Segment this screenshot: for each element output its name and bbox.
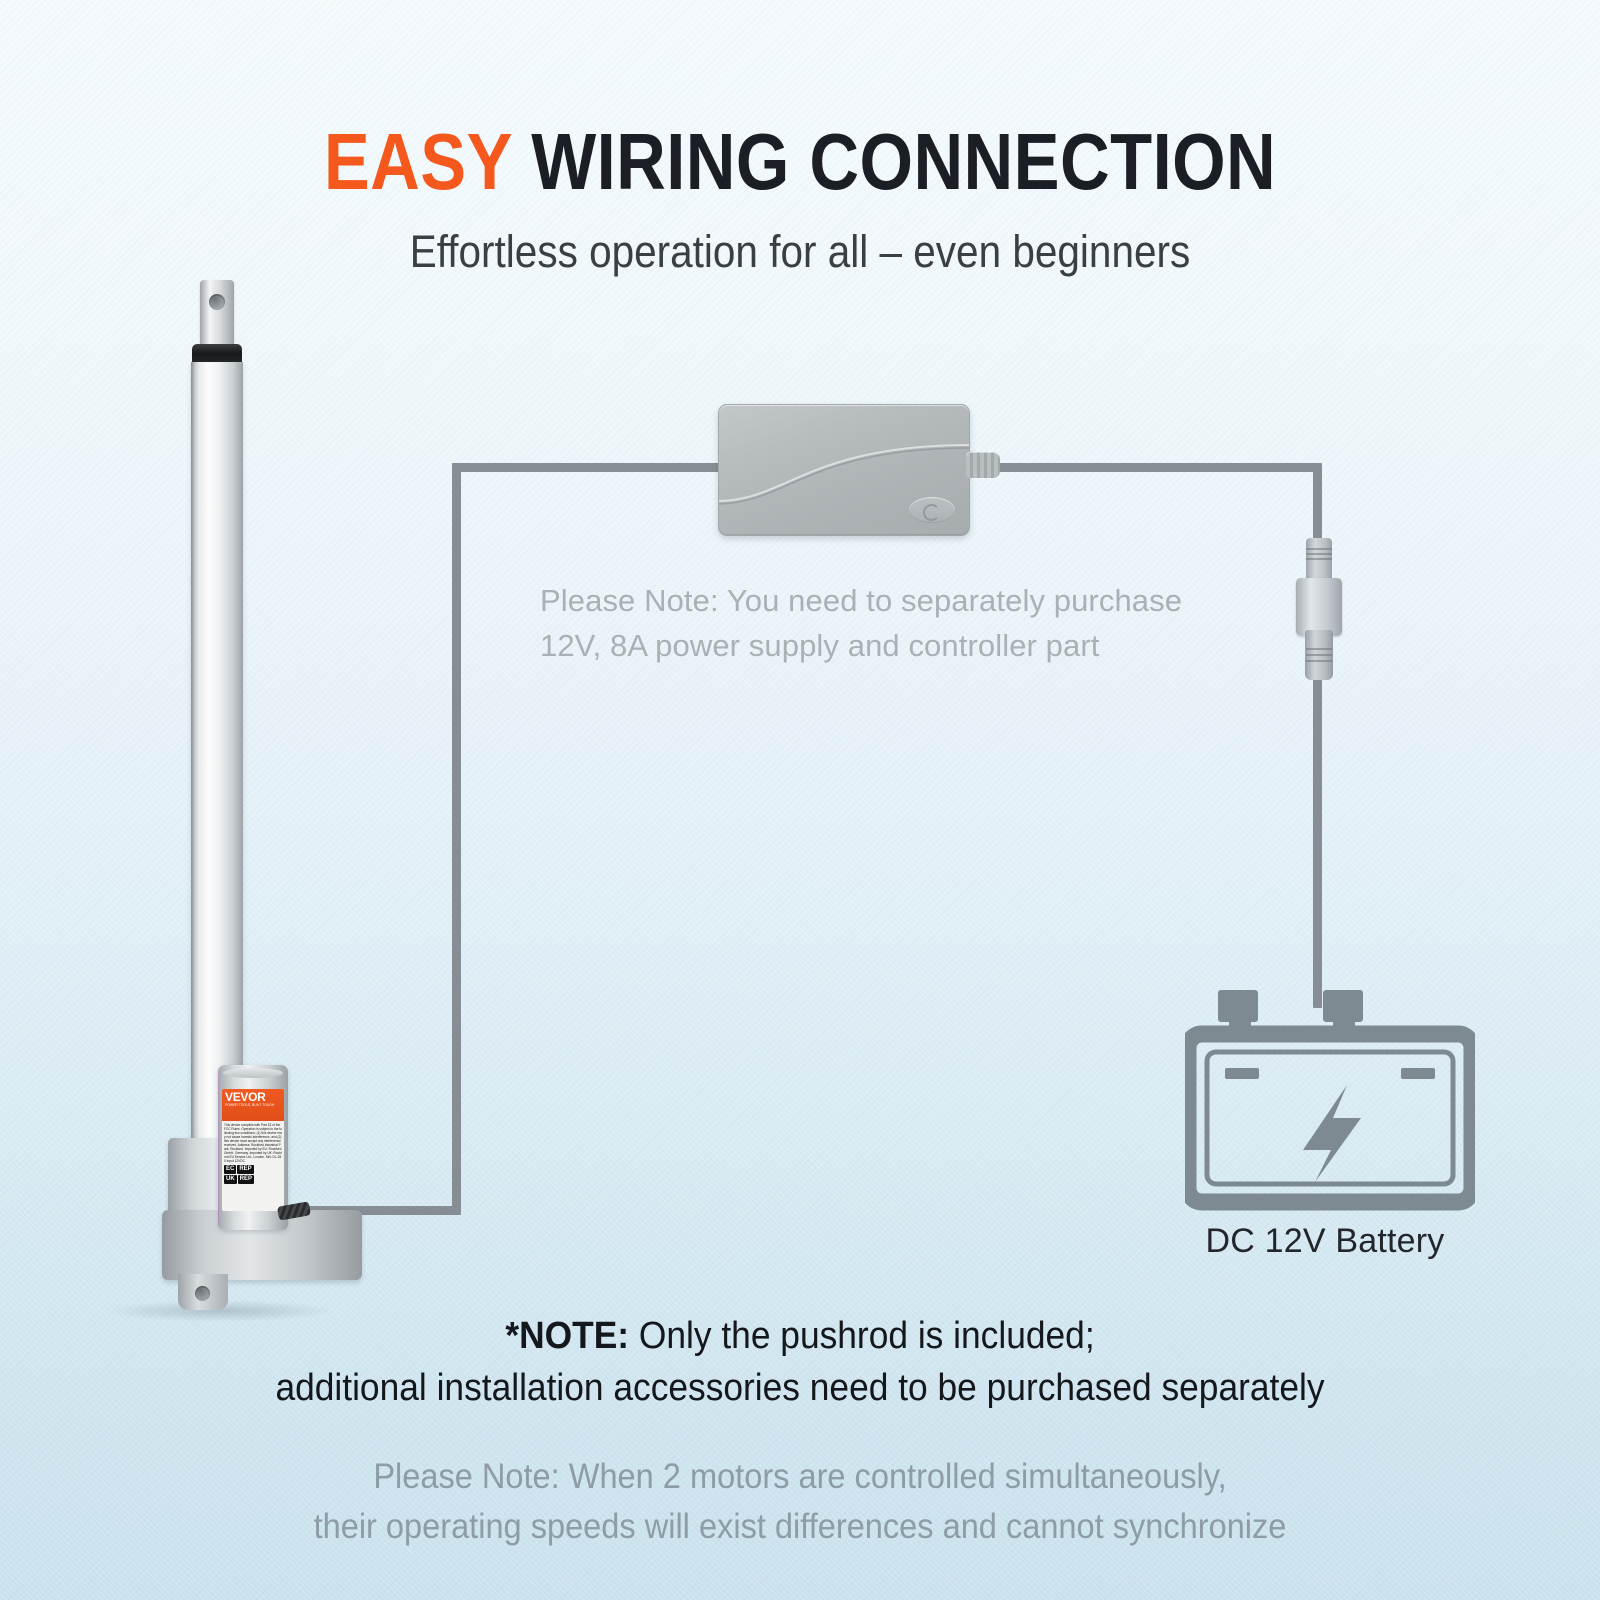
wire-segment-top-right <box>992 463 1317 472</box>
actuator-motor-housing: VEVOR POWER TOOLS, BUILT TOUGH This devi… <box>218 1065 288 1230</box>
poster-canvas: EASY WIRING CONNECTION Effortless operat… <box>0 0 1600 1600</box>
footer-sync-line-1: Please Note: When 2 motors are controlle… <box>168 1452 1433 1502</box>
label-brand-band: VEVOR POWER TOOLS, BUILT TOUGH <box>222 1089 284 1121</box>
footer-sync-line-2: their operating speeds will exist differ… <box>168 1502 1433 1552</box>
label-rep-row: UK REP <box>224 1175 282 1184</box>
footer-note-label: *NOTE: <box>505 1315 629 1357</box>
footer-note-line-1: *NOTE: Only the pushrod is included; <box>168 1310 1433 1362</box>
footer-note-text: Only the pushrod is included; <box>629 1315 1095 1357</box>
power-adapter-brick <box>718 404 970 536</box>
actuator-tube-body <box>191 362 243 1152</box>
dc-battery-icon <box>1185 990 1475 1215</box>
footer-note-line-2: additional installation accessories need… <box>168 1362 1433 1414</box>
wire-segment-top-left <box>452 463 724 472</box>
linear-actuator-pushrod: VEVOR POWER TOOLS, BUILT TOUGH This devi… <box>140 280 340 1310</box>
battery-caption: DC 12V Battery <box>1110 1222 1540 1261</box>
purchase-note: Please Note: You need to separately purc… <box>540 578 1240 668</box>
rep-region-ec: EC <box>224 1165 236 1174</box>
wire-segment-right-vertical-lower <box>1313 668 1322 1008</box>
label-rep-row: EC REP <box>224 1165 282 1174</box>
actuator-rod-eyelet <box>200 280 234 350</box>
page-title: EASY WIRING CONNECTION <box>112 120 1488 204</box>
motor-end-cap <box>223 1068 283 1078</box>
label-rep-marks: EC REP UK REP <box>222 1165 284 1186</box>
page-title-accent: EASY <box>324 117 512 206</box>
connector-collar <box>1296 578 1342 636</box>
brand-name: VEVOR <box>225 1091 281 1103</box>
brick-indicator-led <box>909 497 955 523</box>
footer-sync-note: Please Note: When 2 motors are controlle… <box>168 1452 1433 1552</box>
brand-tagline: POWER TOOLS, BUILT TOUGH <box>225 1103 281 1107</box>
brick-cable-strain-relief <box>966 452 1000 478</box>
actuator-rear-mount-bracket <box>178 1274 228 1310</box>
product-spec-label: VEVOR POWER TOOLS, BUILT TOUGH This devi… <box>222 1089 284 1211</box>
battery-glyph <box>1185 990 1475 1215</box>
dc-barrel-connector <box>1295 538 1343 680</box>
rep-tag-ec: REP <box>237 1165 253 1174</box>
rear-mount-hole <box>195 1286 210 1301</box>
wire-segment-left-vertical <box>452 463 461 1215</box>
rod-mounting-hole <box>209 294 225 310</box>
label-fineprint: This device complies with Part 15 of the… <box>222 1121 284 1165</box>
rep-region-uk: UK <box>224 1175 237 1184</box>
wire-segment-right-vertical-upper <box>1313 463 1322 548</box>
rep-tag-uk: REP <box>238 1175 254 1184</box>
page-title-rest: WIRING CONNECTION <box>531 117 1276 206</box>
footer-note: *NOTE: Only the pushrod is included; add… <box>168 1310 1433 1414</box>
page-subtitle: Effortless operation for all – even begi… <box>80 226 1520 278</box>
